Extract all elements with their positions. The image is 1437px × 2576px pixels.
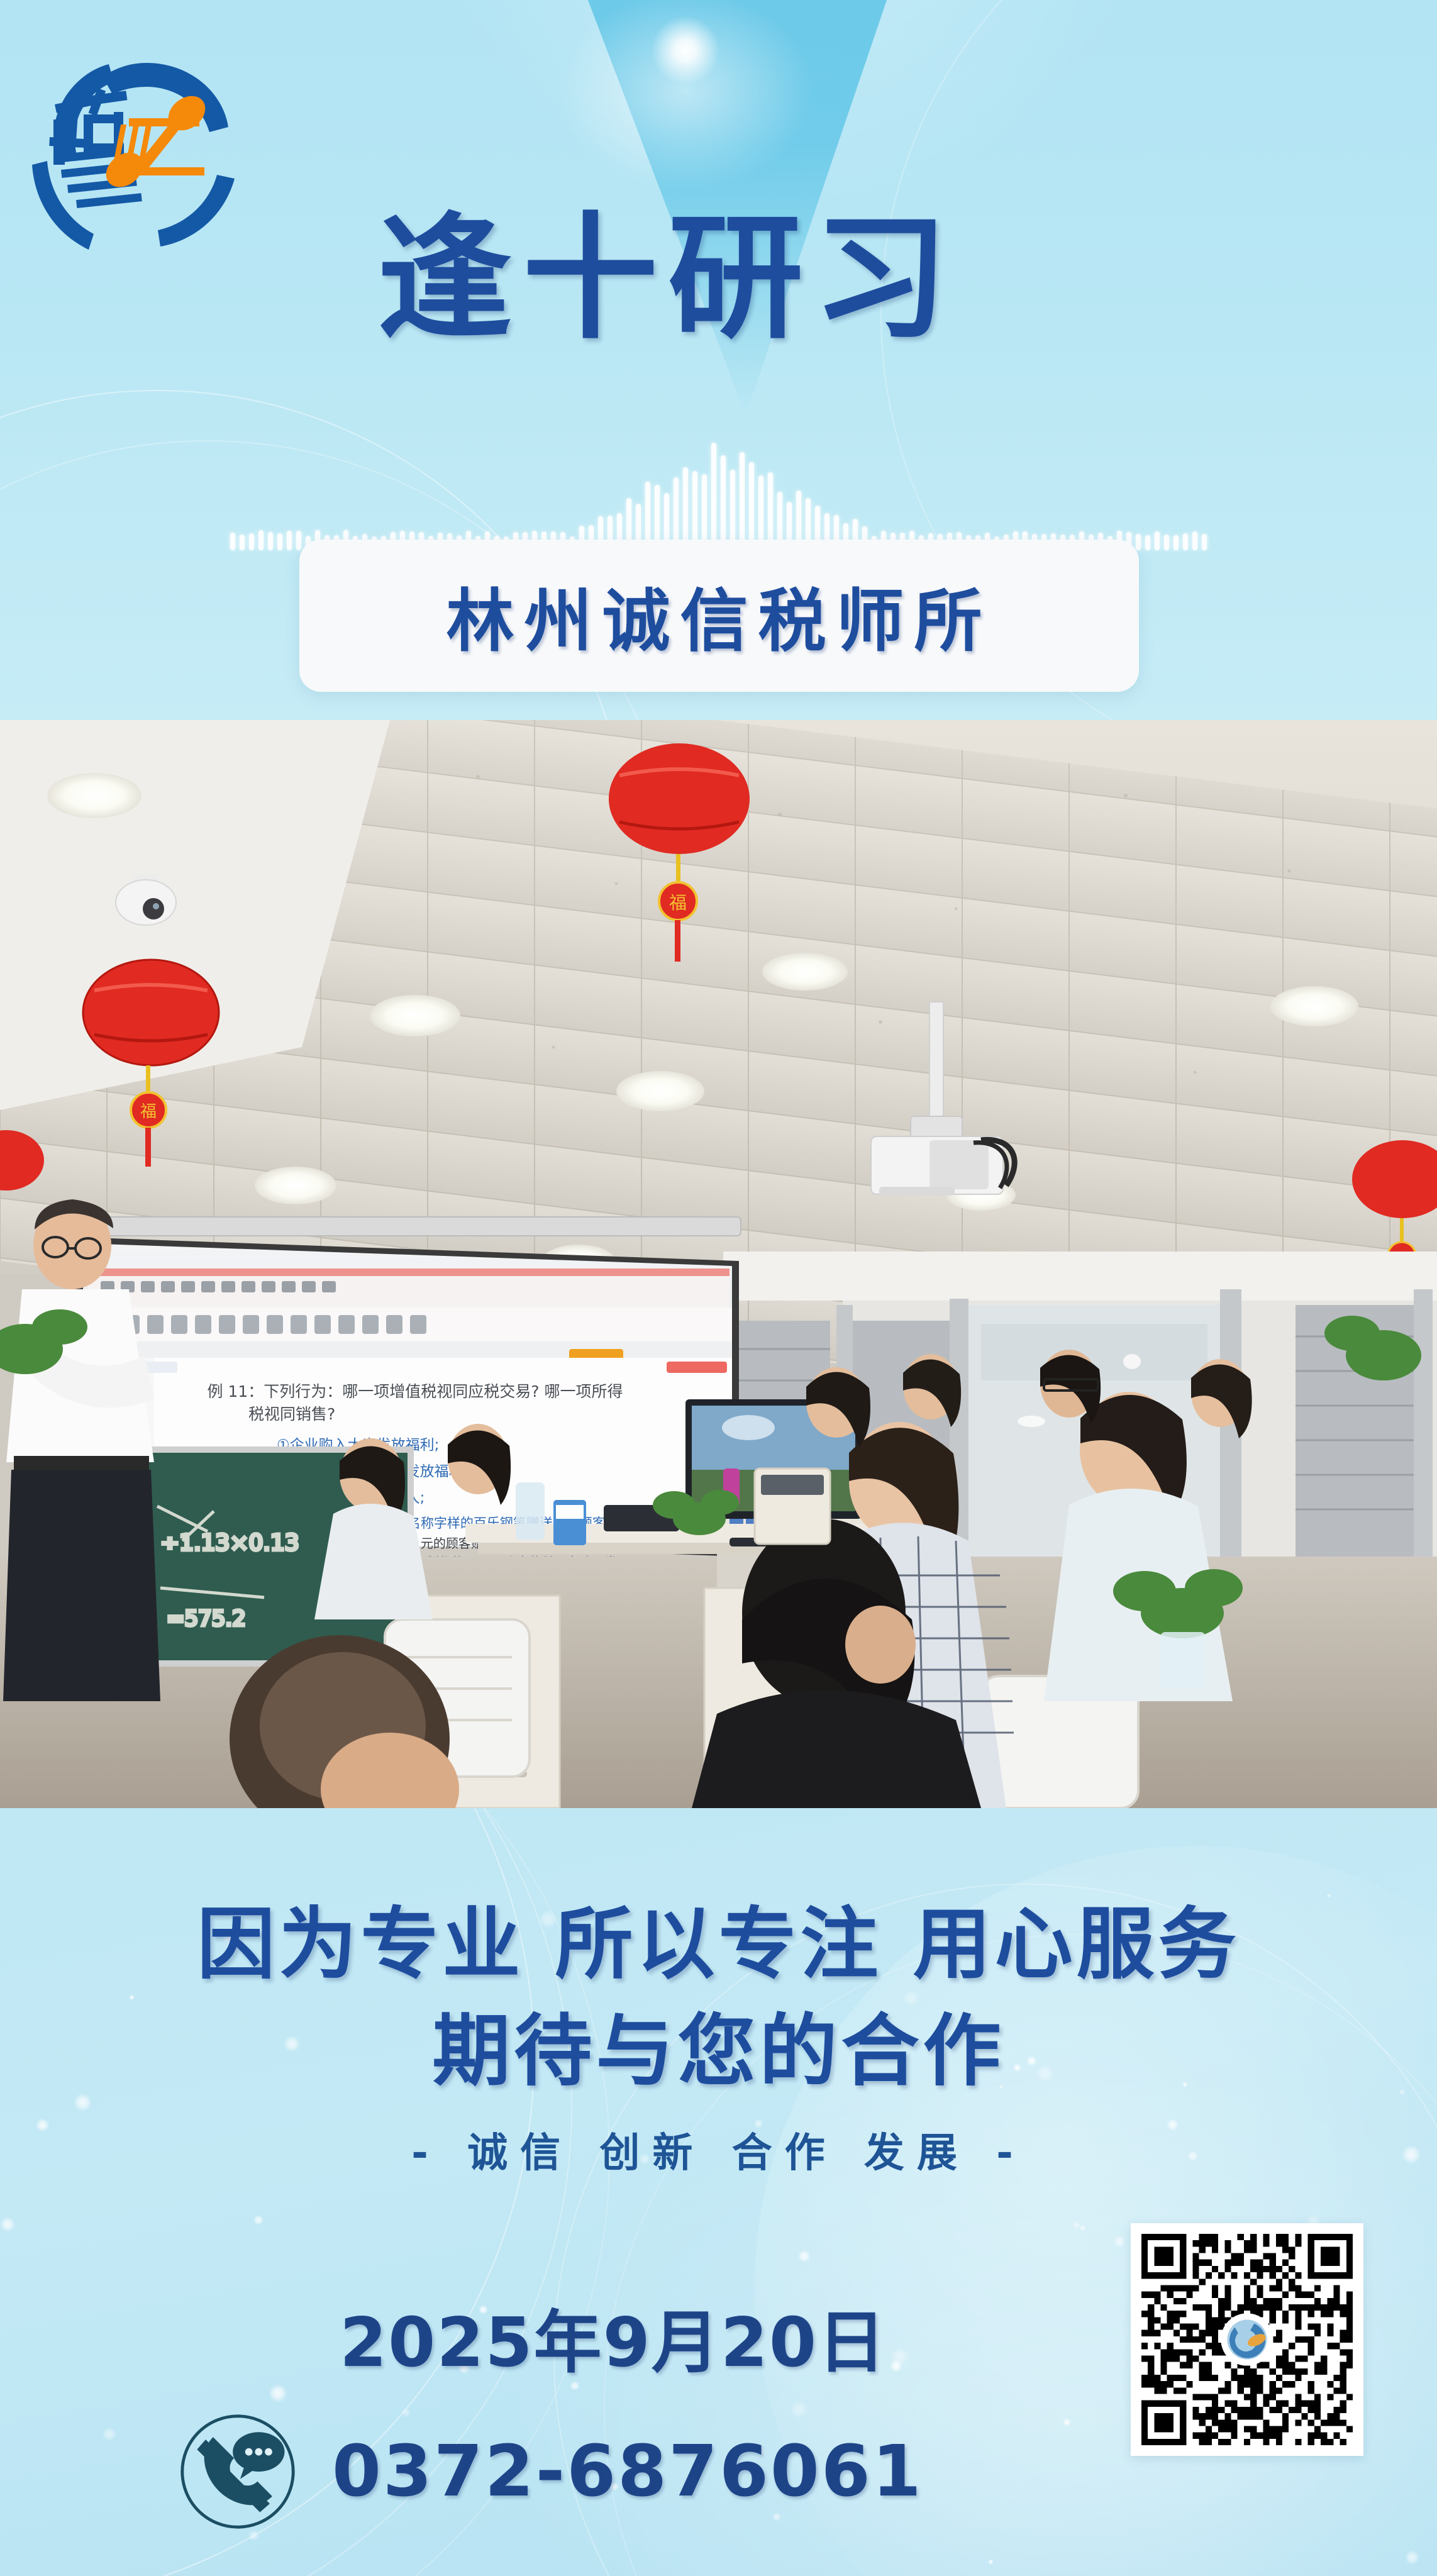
contact-row: 0372-6876061	[176, 2410, 1057, 2533]
poster-root: 逢十研习 林州诚信税师所	[0, 0, 1437, 2576]
page-title: 逢十研习	[377, 211, 958, 346]
subtitle-pill: 林州诚信税师所	[299, 540, 1139, 692]
phone-number[interactable]: 0372-6876061	[332, 2431, 923, 2512]
svg-text:÷1.13×0.13: ÷1.13×0.13	[160, 1530, 299, 1556]
header-light-spark-icon	[651, 16, 720, 85]
event-date: 2025年9月20日	[195, 2288, 1031, 2386]
audio-waveform-decoration	[0, 434, 1437, 550]
svg-text:福: 福	[669, 892, 687, 913]
svg-text:税视同销售?: 税视同销售?	[248, 1405, 335, 1423]
wechat-qr-code[interactable]	[1131, 2223, 1363, 2456]
slogan-line-1: 因为专业 所以专注 用心服务	[0, 1880, 1437, 1994]
svg-text:例 11：下列行为：哪一项增值税视同应税交易? 哪一项所得: 例 11：下列行为：哪一项增值税视同应税交易? 哪一项所得	[208, 1382, 623, 1401]
phone-call-icon	[176, 2410, 299, 2533]
training-session-photo: 福 福	[0, 720, 1437, 1808]
slogan-line-2: 期待与您的合作	[0, 1987, 1437, 2101]
company-name: 林州诚信税师所	[446, 567, 992, 665]
header-section: 逢十研习 林州诚信税师所	[0, 0, 1437, 720]
svg-text:福: 福	[140, 1102, 157, 1121]
svg-text:=575.2: =575.2	[167, 1606, 246, 1631]
chengxin-tax-firm-logo	[28, 44, 255, 252]
core-values: - 诚信 创新 合作 发展 -	[0, 2121, 1437, 2179]
